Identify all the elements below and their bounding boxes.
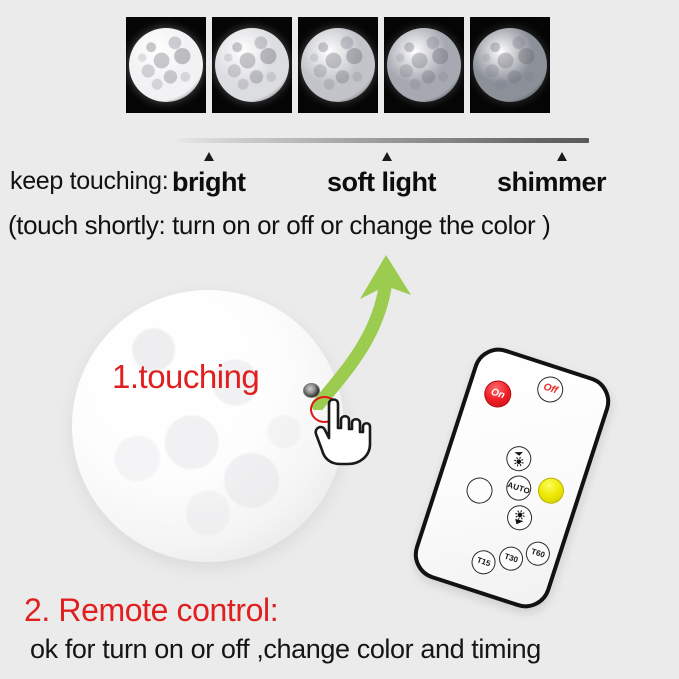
remote-button-timer-30[interactable]: T30 xyxy=(496,544,526,574)
caret-marker-bright xyxy=(204,152,214,161)
product-instruction-infographic: keep touching: bright soft light shimmer… xyxy=(0,0,679,679)
brightness-level-strip xyxy=(126,17,554,113)
moon-thumbnail-5 xyxy=(470,17,550,113)
touch-shortly-note: (touch shortly: turn on or off or change… xyxy=(8,210,550,241)
moon-lamp-sphere xyxy=(72,290,344,562)
hand-pointer-icon xyxy=(312,394,374,466)
moon-thumbnail-4 xyxy=(384,17,464,113)
moon-thumbnail-3 xyxy=(298,17,378,113)
keep-touching-text: keep touching: xyxy=(10,167,168,195)
remote-button-off[interactable]: Off xyxy=(534,373,567,406)
step-two-title: 2. Remote control: xyxy=(24,592,278,629)
mode-label-bright: bright xyxy=(172,167,245,198)
remote-button-timer-60[interactable]: T60 xyxy=(523,539,553,569)
brightness-up-icon xyxy=(507,447,531,471)
remote-button-color-yellow[interactable] xyxy=(535,474,568,507)
remote-button-timer-15[interactable]: T15 xyxy=(468,547,498,577)
remote-button-brightness-up[interactable] xyxy=(503,443,535,475)
caret-marker-shimmer xyxy=(557,152,567,161)
remote-button-color-white[interactable] xyxy=(463,474,496,507)
moon-thumbnail-2 xyxy=(212,17,292,113)
remote-control: On Off xyxy=(413,349,613,599)
moon-thumbnail-1 xyxy=(126,17,206,113)
remote-button-brightness-down[interactable] xyxy=(504,502,536,534)
mode-label-shimmer: shimmer xyxy=(497,167,606,198)
keep-touching-label: keep touching: xyxy=(10,167,168,196)
step-two-description: ok for turn on or off ,change color and … xyxy=(30,634,541,665)
step-one-label: 1.touching xyxy=(112,358,259,396)
brightness-gradient-bar xyxy=(177,138,589,143)
remote-body: On Off xyxy=(407,341,617,615)
brightness-down-icon xyxy=(508,506,532,530)
remote-button-on[interactable]: On xyxy=(481,377,515,411)
mode-label-soft-light: soft light xyxy=(327,167,436,198)
remote-button-auto[interactable]: AUTO xyxy=(503,472,535,504)
caret-marker-soft-light xyxy=(382,152,392,161)
